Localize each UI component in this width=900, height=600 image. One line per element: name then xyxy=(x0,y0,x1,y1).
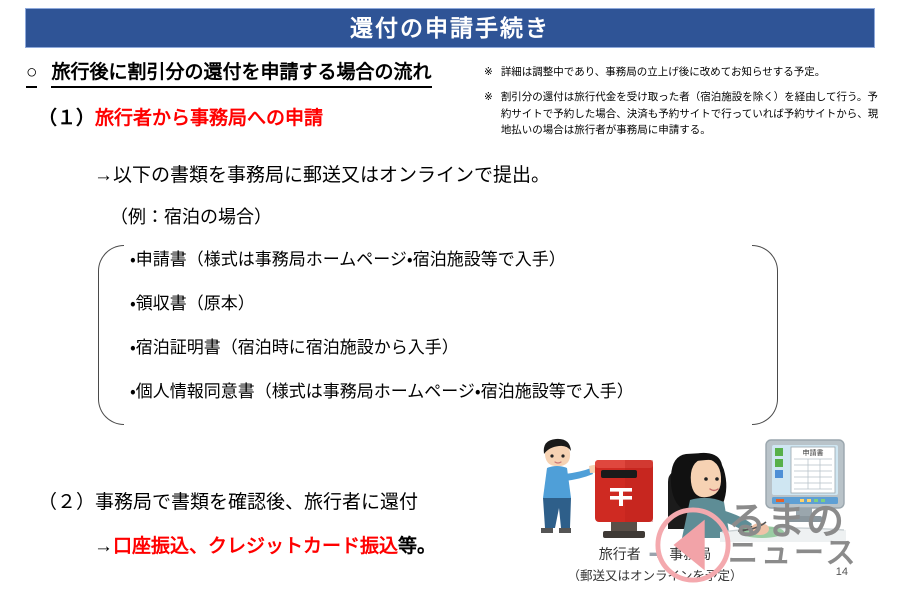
page-number: 14 xyxy=(836,566,848,578)
svg-text:申請書: 申請書 xyxy=(803,448,824,457)
note-text: 割引分の還付は旅行代金を受け取った者（宿泊施設を除く）を経由して行う。予約サイト… xyxy=(501,89,884,138)
note-mark-icon: ※ xyxy=(484,64,493,80)
caption-sub: （郵送又はオンラインを予定） xyxy=(520,567,790,586)
note-row: ※ 割引分の還付は旅行代金を受け取った者（宿泊施設を除く）を経由して行う。予約サ… xyxy=(484,89,884,138)
step2-detail: →口座振込、クレジットカード振込等。 xyxy=(94,536,436,559)
step1-submit-line: →以下の書類を事務局に郵送又はオンラインで提出。 xyxy=(94,165,550,188)
note-mark-icon: ※ xyxy=(484,89,493,138)
notes-block: ※ 詳細は調整中であり、事務局の立上げ後に改めてお知らせする予定。 ※ 割引分の… xyxy=(484,64,884,147)
caption-from: 旅行者 xyxy=(599,546,641,562)
left-brace-icon xyxy=(98,245,124,425)
heading-label: 旅行後に割引分の還付を申請する場合の流れ xyxy=(51,62,431,88)
postbox-person-icon xyxy=(525,436,665,546)
list-item: ・申請書（様式は事務局ホームページ・宿泊施設等で入手） xyxy=(130,251,758,268)
document-list: ・申請書（様式は事務局ホームページ・宿泊施設等で入手） ・領収書（原本） ・宿泊… xyxy=(130,251,758,427)
caption-flow: 旅行者➡事務局 xyxy=(520,544,790,567)
step1-example-line: （例：宿泊の場合） xyxy=(110,207,272,229)
caption-arrow-icon: ➡ xyxy=(649,546,662,563)
step1-number: （１） xyxy=(38,108,95,129)
slide-title: 還付の申請手続き xyxy=(350,17,550,40)
slide-title-bar: 還付の申請手続き xyxy=(25,8,875,48)
list-item: ・宿泊証明書（宿泊時に宿泊施設から入手） xyxy=(130,339,758,356)
step1-heading: （１）旅行者から事務局への申請 xyxy=(38,108,323,131)
step2-detail-highlight: 口座振込、クレジットカード振込 xyxy=(113,536,398,557)
heading-bullet-icon: ○ xyxy=(26,62,37,88)
step2-arrow-icon: → xyxy=(94,536,113,557)
step2-detail-tail: 等。 xyxy=(398,536,436,557)
illustration-caption: 旅行者➡事務局 （郵送又はオンラインを予定） xyxy=(520,544,790,585)
document-list-group: ・申請書（様式は事務局ホームページ・宿泊施設等で入手） ・領収書（原本） ・宿泊… xyxy=(98,245,778,425)
caption-to: 事務局 xyxy=(669,546,711,562)
step1-label: 旅行者から事務局への申請 xyxy=(95,108,323,129)
person-at-computer-icon: 申請書 xyxy=(660,436,850,548)
list-item: ・領収書（原本） xyxy=(130,295,758,312)
list-item: ・個人情報同意書（様式は事務局ホームページ・宿泊施設等で入手） xyxy=(130,383,758,400)
note-row: ※ 詳細は調整中であり、事務局の立上げ後に改めてお知らせする予定。 xyxy=(484,64,884,80)
illustration-group: 申請書 xyxy=(520,436,860,596)
step2-heading: （２）事務局で書類を確認後、旅行者に還付 xyxy=(38,492,418,515)
slide-canvas: 還付の申請手続き ○旅行後に割引分の還付を申請する場合の流れ ※ 詳細は調整中で… xyxy=(0,0,900,600)
section-heading: ○旅行後に割引分の還付を申請する場合の流れ xyxy=(26,62,432,88)
note-text: 詳細は調整中であり、事務局の立上げ後に改めてお知らせする予定。 xyxy=(501,64,884,80)
